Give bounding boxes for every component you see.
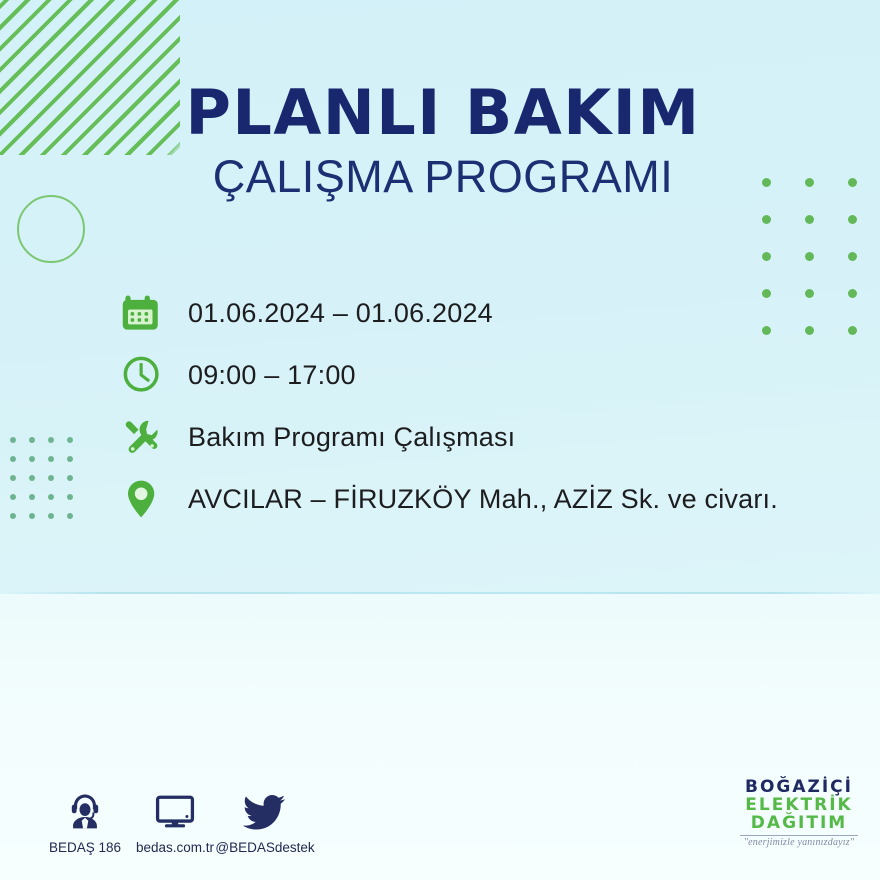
clock-icon [118, 351, 166, 399]
contact-twitter[interactable]: @BEDASdestek [220, 788, 310, 855]
contact-website-label: bedas.com.tr [136, 840, 214, 855]
twitter-bird-icon [242, 788, 288, 834]
contact-phone[interactable]: BEDAŞ 186 [40, 788, 130, 855]
footer-contact-channels: BEDAŞ 186 bedas.com.tr @BEDASdestek [40, 788, 310, 855]
brand-logo-line2: ELEKTRİK [740, 796, 858, 814]
info-row-date: 01.06.2024 – 01.06.2024 [118, 282, 838, 344]
info-row-location: AVCILAR – FİRUZKÖY Mah., AZİZ Sk. ve civ… [118, 468, 838, 530]
contact-website[interactable]: bedas.com.tr [130, 788, 220, 855]
maintenance-details-list: 01.06.2024 – 01.06.2024 09:00 – 17:00 [118, 282, 838, 530]
maintenance-location: AVCILAR – FİRUZKÖY Mah., AZİZ Sk. ve civ… [188, 484, 778, 515]
contact-twitter-label: @BEDASdestek [215, 840, 314, 855]
contact-phone-label: BEDAŞ 186 [49, 840, 121, 855]
circle-outline-decoration [17, 195, 85, 263]
brand-logo-line3: DAĞITIM [740, 814, 858, 832]
brand-tagline: "enerjimizle yanınızdayız" [740, 838, 858, 849]
info-row-work-type: Bakım Programı Çalışması [118, 406, 838, 468]
page-subtitle: ÇALIŞMA PROGRAMI [0, 151, 880, 203]
panel-divider [0, 592, 880, 594]
planned-maintenance-poster: PLANLI BAKIM ÇALIŞMA PROGRAMI [0, 0, 880, 880]
calendar-icon [118, 289, 166, 337]
maintenance-time-range: 09:00 – 17:00 [188, 360, 356, 391]
dot-grid-left-decoration [10, 437, 86, 532]
tools-icon [118, 413, 166, 461]
page-title-block: PLANLI BAKIM ÇALIŞMA PROGRAMI [0, 80, 880, 203]
page-title: PLANLI BAKIM [0, 80, 880, 145]
brand-logo-rule [740, 835, 858, 836]
info-row-time: 09:00 – 17:00 [118, 344, 838, 406]
monitor-icon [153, 788, 197, 834]
brand-logo-line1: BOĞAZİÇİ [740, 778, 858, 796]
location-pin-icon [118, 475, 166, 523]
maintenance-work-type: Bakım Programı Çalışması [188, 422, 515, 453]
maintenance-date-range: 01.06.2024 – 01.06.2024 [188, 298, 493, 329]
headset-support-icon [63, 788, 107, 834]
brand-logo: BOĞAZİÇİ ELEKTRİK DAĞITIM "enerjimizle y… [740, 778, 858, 849]
